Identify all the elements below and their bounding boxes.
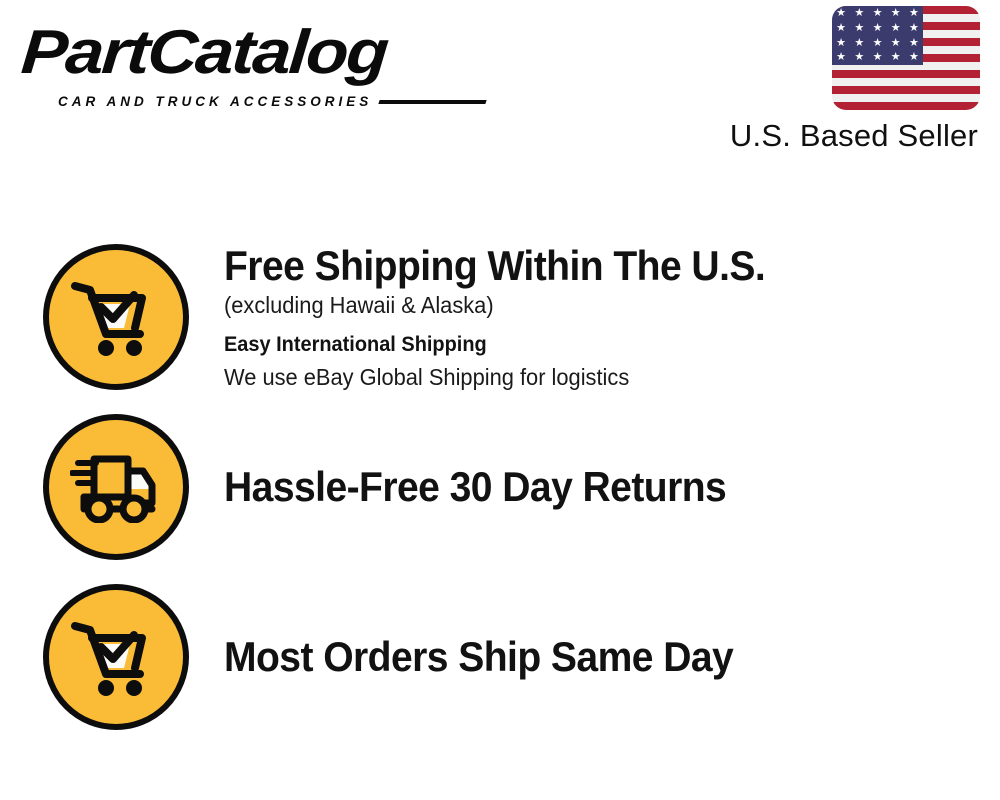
- flag-star: ★: [891, 23, 901, 34]
- flag-star: ★: [836, 52, 846, 63]
- feature-sub-text: We use eBay Global Shipping for logistic…: [224, 362, 942, 392]
- feature-text-same-day: Most Orders Ship Same Day: [224, 633, 1000, 681]
- brand-tagline: CAR AND TRUCK ACCESSORIES: [58, 94, 372, 109]
- brand-logo: PartCatalog CAR AND TRUCK ACCESSORIES: [24, 22, 494, 122]
- feature-row-free-shipping: Free Shipping Within The U.S. (excluding…: [0, 232, 1000, 402]
- flag-stars: ★ ★ ★ ★ ★ ★ ★ ★ ★ ★ ★ ★ ★ ★ ★ ★ ★: [832, 6, 923, 65]
- feature-list: Free Shipping Within The U.S. (excluding…: [0, 232, 1000, 742]
- logo-rule-divider: [379, 100, 487, 104]
- shopping-cart-check-icon: [43, 584, 189, 730]
- banner-header: PartCatalog CAR AND TRUCK ACCESSORIES ★ …: [0, 0, 1000, 175]
- flag-star: ★: [854, 52, 864, 63]
- brand-tagline-row: CAR AND TRUCK ACCESSORIES: [58, 94, 488, 109]
- flag-star: ★: [854, 23, 864, 34]
- flag-star: ★: [909, 38, 919, 49]
- promo-banner: PartCatalog CAR AND TRUCK ACCESSORIES ★ …: [0, 0, 1000, 800]
- feature-headline: Most Orders Ship Same Day: [224, 633, 927, 681]
- flag-star: ★: [909, 8, 919, 19]
- flag-star: ★: [891, 52, 901, 63]
- flag-star: ★: [891, 38, 901, 49]
- feature-row-same-day: Most Orders Ship Same Day: [0, 572, 1000, 742]
- flag-star: ★: [909, 52, 919, 63]
- us-based-seller-badge: ★ ★ ★ ★ ★ ★ ★ ★ ★ ★ ★ ★ ★ ★ ★ ★ ★: [718, 6, 986, 154]
- flag-star: ★: [873, 8, 883, 19]
- delivery-truck-icon: [43, 414, 189, 560]
- flag-star: ★: [854, 8, 864, 19]
- brand-wordmark: PartCatalog: [19, 22, 550, 84]
- feature-note: (excluding Hawaii & Alaska): [224, 290, 942, 321]
- us-flag-icon: ★ ★ ★ ★ ★ ★ ★ ★ ★ ★ ★ ★ ★ ★ ★ ★ ★: [832, 6, 980, 110]
- flag-star: ★: [873, 52, 883, 63]
- feature-text-returns: Hassle-Free 30 Day Returns: [224, 463, 1000, 511]
- feature-sub-heading: Easy International Shipping: [224, 328, 942, 362]
- flag-star: ★: [873, 38, 883, 49]
- flag-star: ★: [836, 23, 846, 34]
- feature-headline: Free Shipping Within The U.S.: [224, 242, 927, 290]
- flag-star: ★: [854, 38, 864, 49]
- feature-row-returns: Hassle-Free 30 Day Returns: [0, 402, 1000, 572]
- flag-star: ★: [909, 23, 919, 34]
- flag-star: ★: [836, 38, 846, 49]
- flag-star: ★: [836, 8, 846, 19]
- flag-star: ★: [891, 8, 901, 19]
- feature-headline: Hassle-Free 30 Day Returns: [224, 463, 927, 511]
- feature-text-free-shipping: Free Shipping Within The U.S. (excluding…: [224, 242, 1000, 392]
- shopping-cart-check-icon: [43, 244, 189, 390]
- flag-star: ★: [873, 23, 883, 34]
- us-based-seller-label: U.S. Based Seller: [718, 118, 986, 154]
